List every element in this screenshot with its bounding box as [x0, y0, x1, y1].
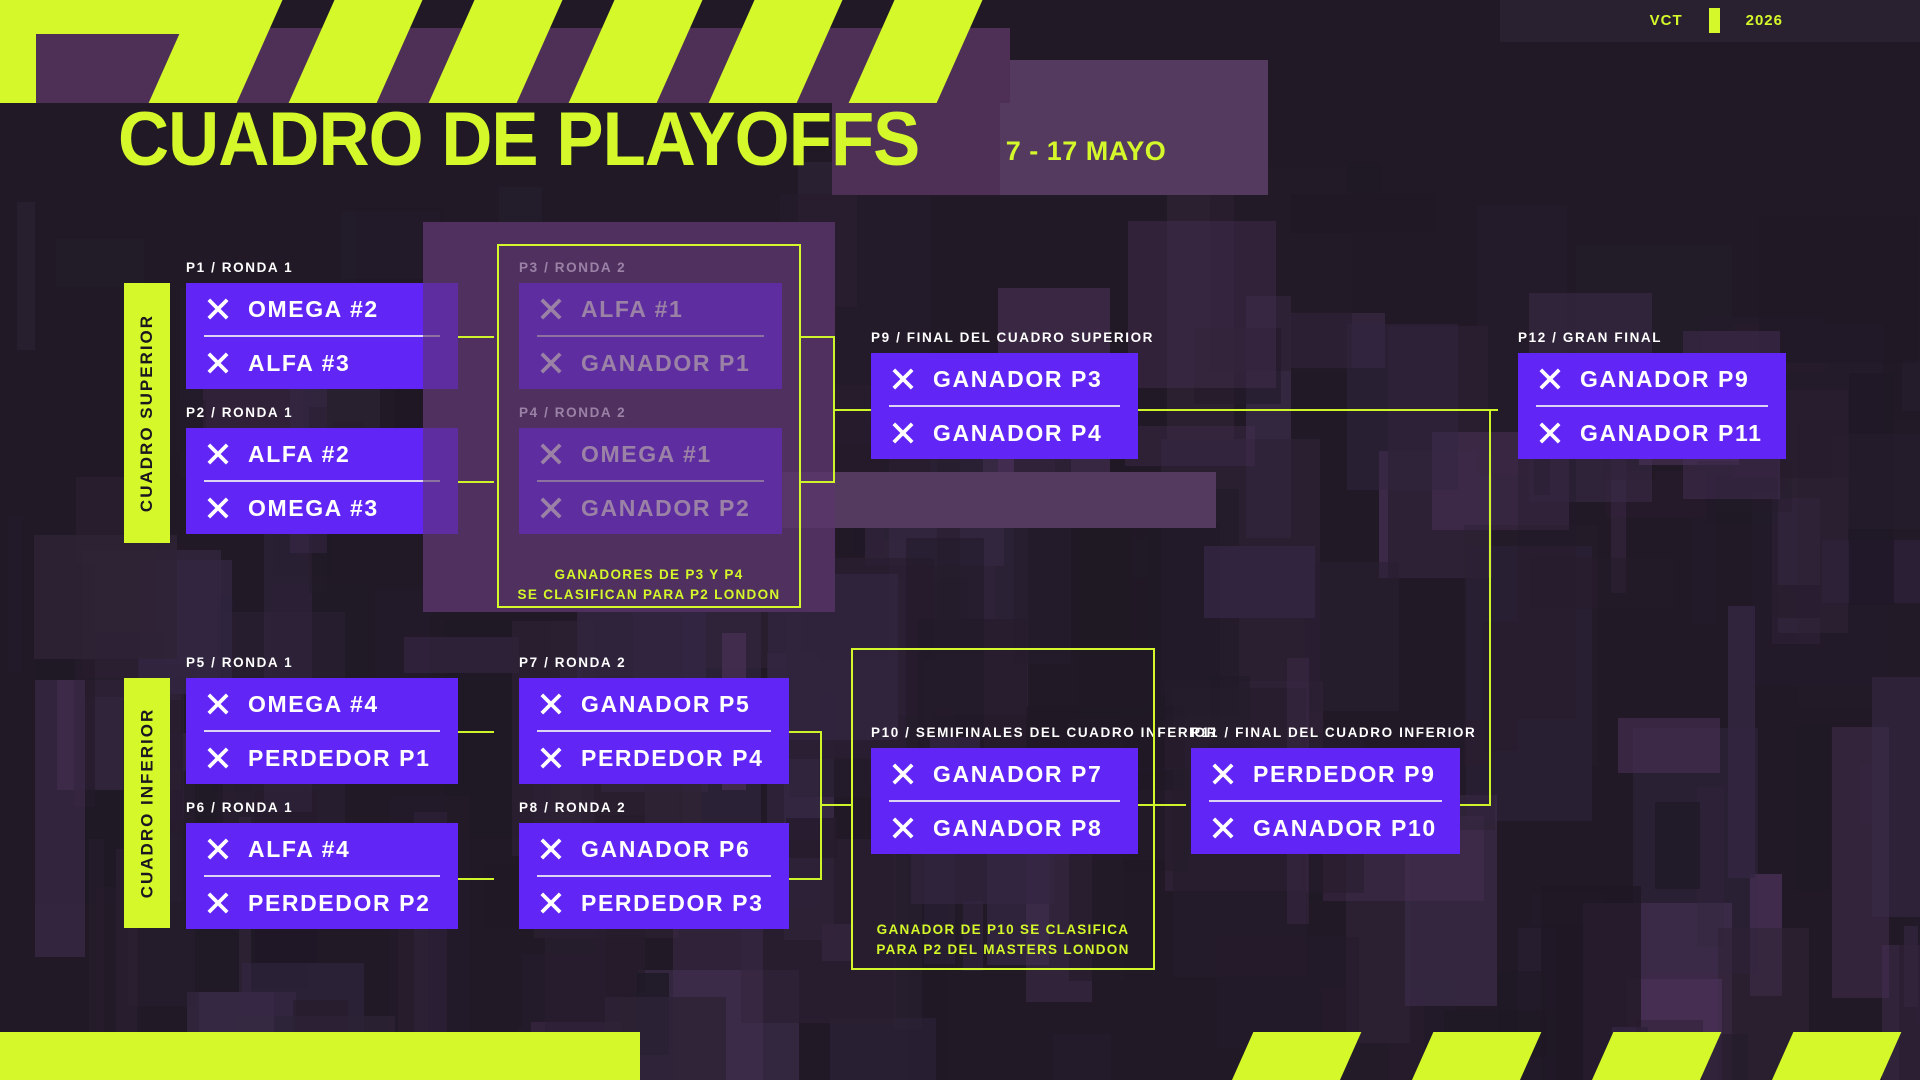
connector — [1138, 409, 1498, 411]
upper-qualify-note: GANADORES DE P3 Y P4 SE CLASIFICAN PARA … — [497, 565, 801, 606]
match-p11-label: P11 / FINAL DEL CUADRO INFERIOR — [1191, 725, 1476, 740]
match-p11-team-1[interactable]: PERDEDOR P9 — [1191, 748, 1460, 800]
match-p5-team-1[interactable]: OMEGA #4 — [186, 678, 458, 730]
lower-qualify-note: GANADOR DE P10 SE CLASIFICA PARA P2 DEL … — [851, 920, 1155, 961]
connector — [801, 481, 834, 483]
match-p7-team-2[interactable]: PERDEDOR P4 — [519, 732, 789, 784]
match-p5-team-1-name: OMEGA #4 — [248, 691, 379, 718]
match-p12-team-2-name: GANADOR P11 — [1580, 420, 1762, 447]
match-p1[interactable]: P1 / RONDA 1 OMEGA #2 ALFA #3 — [186, 260, 458, 389]
match-p1-box[interactable]: OMEGA #2 ALFA #3 — [186, 283, 458, 389]
match-p6-team-2[interactable]: PERDEDOR P2 — [186, 877, 458, 929]
match-p6-team-1-name: ALFA #4 — [248, 836, 350, 863]
upper-note-line-1: GANADORES DE P3 Y P4 — [497, 565, 801, 585]
match-p2-team-1-name: ALFA #2 — [248, 441, 350, 468]
team-logo-icon — [537, 744, 565, 772]
match-p5-box[interactable]: OMEGA #4 PERDEDOR P1 — [186, 678, 458, 784]
connector — [833, 409, 871, 411]
match-p1-label: P1 / RONDA 1 — [186, 260, 458, 275]
team-logo-icon — [204, 690, 232, 718]
connector — [458, 731, 494, 733]
team-logo-icon — [537, 835, 565, 863]
match-p5-label: P5 / RONDA 1 — [186, 655, 458, 670]
match-p1-team-2-name: ALFA #3 — [248, 350, 350, 377]
match-p9-team-2-name: GANADOR P4 — [933, 420, 1102, 447]
team-logo-icon — [889, 365, 917, 393]
connector — [789, 731, 821, 733]
match-p7-box[interactable]: GANADOR P5 PERDEDOR P4 — [519, 678, 789, 784]
match-p8[interactable]: P8 / RONDA 2 GANADOR P6 PERDEDOR P3 — [519, 800, 789, 929]
match-p11-box[interactable]: PERDEDOR P9 GANADOR P10 — [1191, 748, 1460, 854]
lower-note-line-2: PARA P2 DEL MASTERS LONDON — [851, 940, 1155, 960]
lower-note-line-1: GANADOR DE P10 SE CLASIFICA — [851, 920, 1155, 940]
match-p2[interactable]: P2 / RONDA 1 ALFA #2 OMEGA #3 — [186, 405, 458, 534]
team-logo-icon — [1536, 365, 1564, 393]
upper-qualify-group — [497, 244, 801, 608]
match-p7-team-1-name: GANADOR P5 — [581, 691, 750, 718]
match-p1-team-2[interactable]: ALFA #3 — [186, 337, 458, 389]
team-logo-icon — [204, 295, 232, 323]
upper-note-line-2: SE CLASIFICAN PARA P2 LONDON — [497, 585, 801, 605]
match-p11-team-2[interactable]: GANADOR P10 — [1191, 802, 1460, 854]
match-p12[interactable]: P12 / GRAN FINAL GANADOR P9 GANADOR P11 — [1518, 330, 1786, 459]
match-p11-team-1-name: PERDEDOR P9 — [1253, 761, 1435, 788]
match-p7-team-1[interactable]: GANADOR P5 — [519, 678, 789, 730]
title-block: CUADRO DE PLAYOFFS 7 - 17 MAYO — [118, 105, 1166, 175]
team-logo-icon — [1536, 419, 1564, 447]
match-p9[interactable]: P9 / FINAL DEL CUADRO SUPERIOR GANADOR P… — [871, 330, 1154, 459]
match-p11[interactable]: P11 / FINAL DEL CUADRO INFERIOR PERDEDOR… — [1191, 725, 1476, 854]
match-p7-team-2-name: PERDEDOR P4 — [581, 745, 763, 772]
connector — [458, 481, 494, 483]
brand-year: 2026 — [1746, 12, 1783, 29]
page-title: CUADRO DE PLAYOFFS — [118, 105, 919, 175]
connector — [1489, 409, 1491, 806]
match-p7[interactable]: P7 / RONDA 2 GANADOR P5 PERDEDOR P4 — [519, 655, 789, 784]
connector — [789, 878, 821, 880]
connector — [1460, 804, 1490, 806]
match-p1-team-1[interactable]: OMEGA #2 — [186, 283, 458, 335]
match-p2-team-2-name: OMEGA #3 — [248, 495, 379, 522]
page-header: CUADRO DE PLAYOFFS 7 - 17 MAYO — [0, 0, 1920, 220]
brand-badge: VCT 2026 — [1650, 8, 1783, 33]
match-p8-label: P8 / RONDA 2 — [519, 800, 789, 815]
match-p12-team-2[interactable]: GANADOR P11 — [1518, 407, 1786, 459]
connector — [458, 878, 494, 880]
brand-separator-bar — [1709, 8, 1720, 33]
match-p9-team-2[interactable]: GANADOR P4 — [871, 407, 1138, 459]
brand-name: VCT — [1650, 12, 1683, 29]
match-p12-team-1[interactable]: GANADOR P9 — [1518, 353, 1786, 405]
team-logo-icon — [204, 494, 232, 522]
match-p9-team-1-name: GANADOR P3 — [933, 366, 1102, 393]
lower-bracket-label: CUADRO INFERIOR — [124, 678, 170, 928]
match-p6-team-2-name: PERDEDOR P2 — [248, 890, 430, 917]
upper-bracket-label: CUADRO SUPERIOR — [124, 283, 170, 543]
match-p2-label: P2 / RONDA 1 — [186, 405, 458, 420]
match-p5-team-2[interactable]: PERDEDOR P1 — [186, 732, 458, 784]
match-p8-team-2-name: PERDEDOR P3 — [581, 890, 763, 917]
match-p9-label: P9 / FINAL DEL CUADRO SUPERIOR — [871, 330, 1154, 345]
match-p12-team-1-name: GANADOR P9 — [1580, 366, 1749, 393]
team-logo-icon — [537, 889, 565, 917]
upper-bracket-label-text: CUADRO SUPERIOR — [137, 314, 157, 512]
match-p6-box[interactable]: ALFA #4 PERDEDOR P2 — [186, 823, 458, 929]
lower-bracket-label-text: CUADRO INFERIOR — [137, 708, 157, 899]
match-p2-team-2[interactable]: OMEGA #3 — [186, 482, 458, 534]
team-logo-icon — [204, 440, 232, 468]
match-p8-team-1-name: GANADOR P6 — [581, 836, 750, 863]
team-logo-icon — [537, 690, 565, 718]
match-p5-team-2-name: PERDEDOR P1 — [248, 745, 430, 772]
match-p6[interactable]: P6 / RONDA 1 ALFA #4 PERDEDOR P2 — [186, 800, 458, 929]
match-p6-label: P6 / RONDA 1 — [186, 800, 458, 815]
match-p9-box[interactable]: GANADOR P3 GANADOR P4 — [871, 353, 1138, 459]
match-p5[interactable]: P5 / RONDA 1 OMEGA #4 PERDEDOR P1 — [186, 655, 458, 784]
team-logo-icon — [204, 835, 232, 863]
team-logo-icon — [204, 889, 232, 917]
connector — [801, 336, 834, 338]
match-p11-team-2-name: GANADOR P10 — [1253, 815, 1437, 842]
match-p8-team-1[interactable]: GANADOR P6 — [519, 823, 789, 875]
match-p1-team-1-name: OMEGA #2 — [248, 296, 379, 323]
connector — [820, 804, 852, 806]
connector — [1138, 804, 1186, 806]
match-p2-box[interactable]: ALFA #2 OMEGA #3 — [186, 428, 458, 534]
match-p6-team-1[interactable]: ALFA #4 — [186, 823, 458, 875]
team-logo-icon — [889, 419, 917, 447]
team-logo-icon — [1209, 760, 1237, 788]
match-p12-box[interactable]: GANADOR P9 GANADOR P11 — [1518, 353, 1786, 459]
team-logo-icon — [204, 349, 232, 377]
match-p2-team-1[interactable]: ALFA #2 — [186, 428, 458, 480]
match-p8-box[interactable]: GANADOR P6 PERDEDOR P3 — [519, 823, 789, 929]
date-range: 7 - 17 MAYO — [1006, 136, 1167, 175]
match-p7-label: P7 / RONDA 2 — [519, 655, 789, 670]
match-p12-label: P12 / GRAN FINAL — [1518, 330, 1786, 345]
match-p9-team-1[interactable]: GANADOR P3 — [871, 353, 1138, 405]
match-p8-team-2[interactable]: PERDEDOR P3 — [519, 877, 789, 929]
team-logo-icon — [1209, 814, 1237, 842]
team-logo-icon — [204, 744, 232, 772]
connector — [458, 336, 494, 338]
